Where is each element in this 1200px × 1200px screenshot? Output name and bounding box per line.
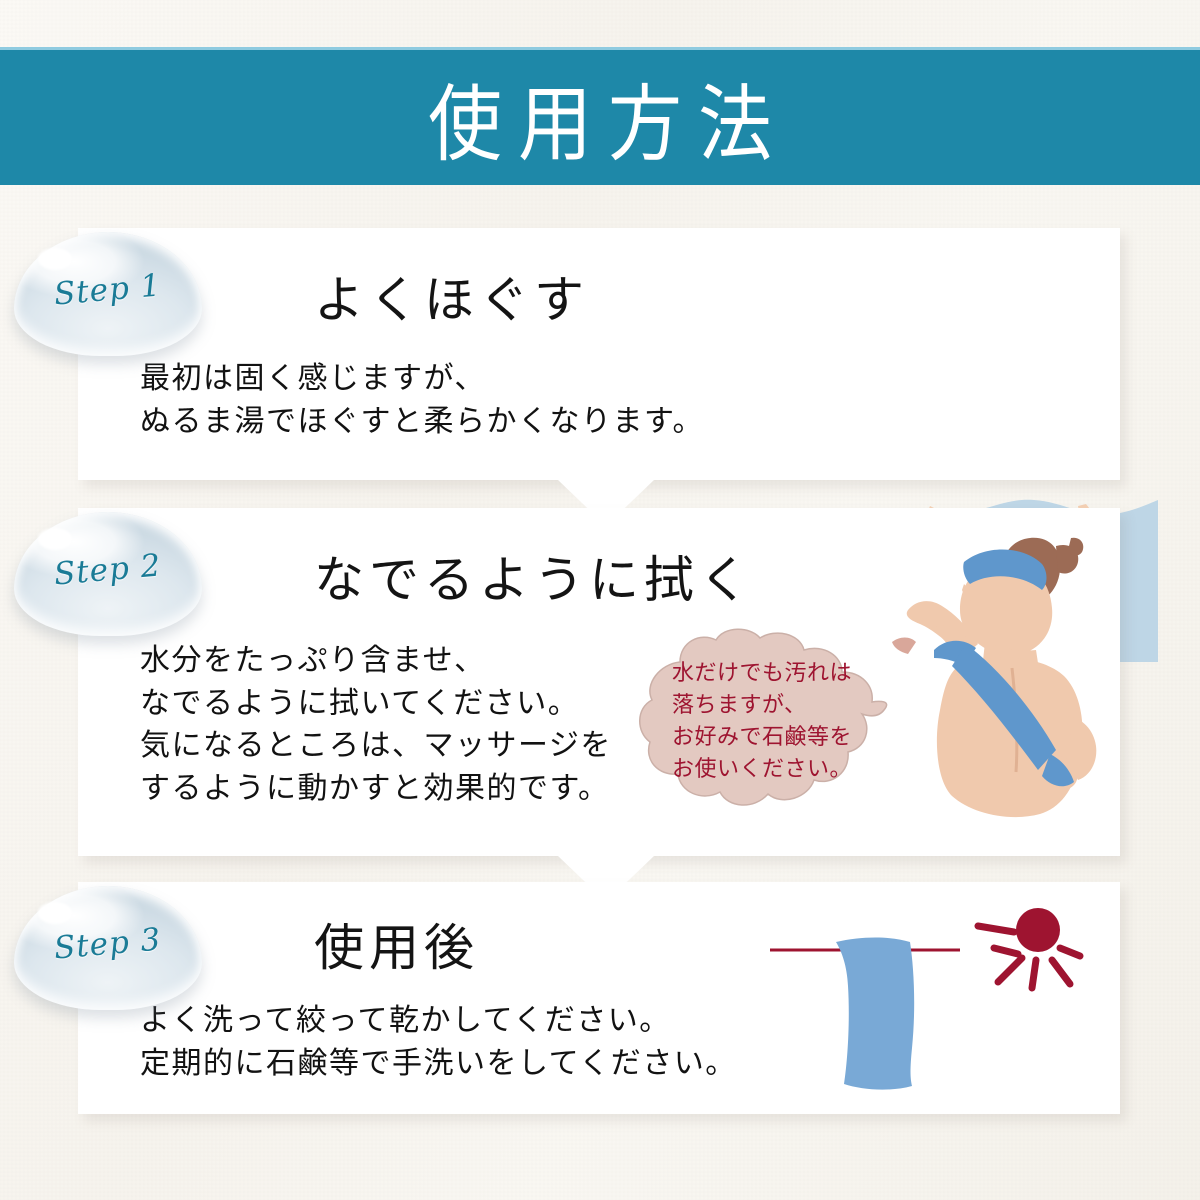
- header-banner: 使用方法: [0, 47, 1200, 185]
- callout-text: 水だけでも汚れは 落ちますが、 お好みで石鹸等を お使いください。: [672, 658, 880, 786]
- step-3-title: 使用後: [314, 908, 479, 980]
- step-3-body: よく洗って絞って乾かしてください。 定期的に石鹸等で手洗いをしてください。: [140, 1000, 737, 1085]
- page-title: 使用方法: [412, 58, 788, 178]
- step-2-badge-label: Step 2: [9, 500, 207, 640]
- step-card-3: 使用後 よく洗って絞って乾かしてください。 定期的に石鹸等で手洗いをしてください…: [78, 882, 1120, 1114]
- step-card-1: よくほぐす 最初は固く感じますが、 ぬるま湯でほぐすと柔らかくなります。: [78, 228, 1120, 480]
- step-1-title: よくほぐす: [314, 260, 589, 332]
- step-2-badge: Step 2: [14, 512, 202, 636]
- step-3-illustration: [770, 898, 1090, 1098]
- step-2-body: 水分をたっぷり含ませ、 なでるように拭いてください。 気になるところは、マッサー…: [140, 640, 612, 810]
- step-1-badge: Step 1: [14, 232, 202, 356]
- step-2-title: なでるように拭く: [314, 540, 754, 612]
- callout-bubble: 水だけでも汚れは 落ちますが、 お好みで石鹸等を お使いください。: [636, 626, 898, 816]
- step-3-badge: Step 3: [14, 886, 202, 1010]
- step-2-illustration: [890, 518, 1110, 838]
- step-3-badge-label: Step 3: [9, 874, 207, 1014]
- poster-root: 使用方法 よくほぐす 最初は固く感じますが、 ぬるま湯でほぐすと柔らかくなります…: [0, 0, 1200, 1200]
- step-1-badge-label: Step 1: [9, 220, 207, 360]
- step-1-body: 最初は固く感じますが、 ぬるま湯でほぐすと柔らかくなります。: [140, 358, 704, 443]
